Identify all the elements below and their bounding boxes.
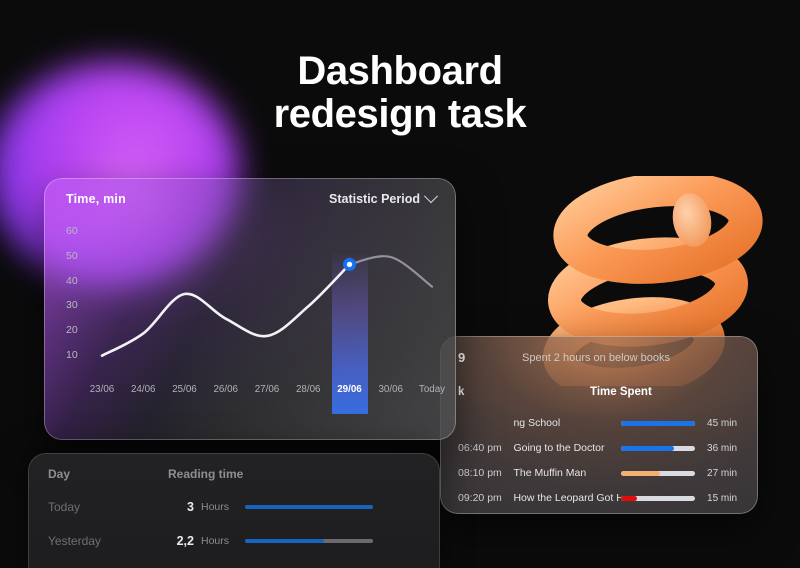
books-card-header: 9 Spent 2 hours on below books [458, 350, 742, 365]
chart-card: Time, min Statistic Period 60 50 40 30 2… [44, 178, 456, 440]
reading-col-reading-time: Reading time [168, 467, 243, 481]
book-row-progress [621, 421, 695, 426]
books-col-time-spent: Time Spent [590, 386, 652, 398]
book-row-value: 15 min [707, 493, 744, 504]
page-title-line2: redesign task [0, 93, 800, 136]
page-title-line1: Dashboard [0, 50, 800, 93]
table-row[interactable]: 08:10 pm The Muffin Man 27 min [458, 462, 744, 484]
reading-row-progress [245, 539, 373, 543]
table-row[interactable]: Yesterday 2,2 Hours [48, 529, 424, 553]
reading-row-day: Today [48, 500, 168, 514]
x-axis-tick: Today [419, 384, 445, 395]
data-point-marker-icon [347, 262, 352, 267]
book-row-name: Going to the Doctor [513, 442, 621, 454]
book-row-time: 08:10 pm [458, 467, 513, 479]
reading-row-unit: Hours [201, 535, 245, 547]
book-row-name: ng School [513, 417, 621, 429]
book-row-time: 06:40 pm [458, 442, 513, 454]
books-table-header: k Time Spent [458, 386, 742, 398]
x-axis-tick: 25/06 [172, 384, 197, 395]
book-row-value: 45 min [707, 418, 744, 429]
book-row-name: How the Leopard Got His… [513, 492, 621, 504]
statistic-period-label: Statistic Period [329, 192, 420, 206]
books-card: 9 Spent 2 hours on below books k Time Sp… [440, 336, 758, 514]
canvas: Dashboard redesign task 9 Spent 2 hours … [0, 0, 800, 568]
reading-row-progress [245, 505, 373, 509]
reading-row-day: Yesterday [48, 534, 168, 548]
book-row-time: 09:20 pm [458, 492, 513, 504]
table-row[interactable]: 09:20 pm How the Leopard Got His… 15 min [458, 487, 744, 509]
x-axis-tick: 27/06 [255, 384, 280, 395]
x-axis-tick: 28/06 [296, 384, 321, 395]
books-card-subtitle: Spent 2 hours on below books [522, 352, 670, 364]
books-col-book: k [458, 386, 590, 398]
reading-table-header: Day Reading time [48, 467, 422, 481]
book-row-name: The Muffin Man [513, 467, 621, 479]
books-card-date: 9 [458, 350, 522, 365]
chevron-down-icon [424, 189, 438, 203]
x-axis-tick: 29/06 [337, 384, 362, 395]
reading-row-value: 2,2 [168, 534, 194, 548]
chart-plot-area: 60 50 40 30 20 10 23/0624/0625/0626/0627… [44, 214, 456, 414]
book-row-value: 36 min [707, 443, 744, 454]
book-row-value: 27 min [707, 468, 744, 479]
table-row[interactable]: Last Week Avg 2,8 Hours [48, 563, 424, 568]
x-axis-tick: 30/06 [378, 384, 403, 395]
x-axis-tick: 24/06 [131, 384, 156, 395]
chart-y-axis-title: Time, min [66, 192, 126, 206]
x-axis-tick: 26/06 [213, 384, 238, 395]
table-row[interactable]: ng School 45 min [458, 412, 744, 434]
book-row-progress [621, 471, 695, 476]
reading-row-unit: Hours [201, 501, 245, 513]
book-row-progress [621, 446, 695, 451]
x-axis: 23/0624/0625/0626/0627/0628/0629/0630/06… [44, 384, 456, 400]
statistic-period-dropdown[interactable]: Statistic Period [329, 192, 436, 206]
reading-time-card: Day Reading time Today 3 Hours Yesterday… [28, 453, 440, 568]
page-title: Dashboard redesign task [0, 50, 800, 136]
table-row[interactable]: 06:40 pm Going to the Doctor 36 min [458, 437, 744, 459]
reading-row-value: 3 [168, 500, 194, 514]
reading-col-day: Day [48, 467, 168, 481]
book-row-progress [621, 496, 695, 501]
table-row[interactable]: Today 3 Hours [48, 495, 424, 519]
x-axis-tick: 23/06 [90, 384, 115, 395]
